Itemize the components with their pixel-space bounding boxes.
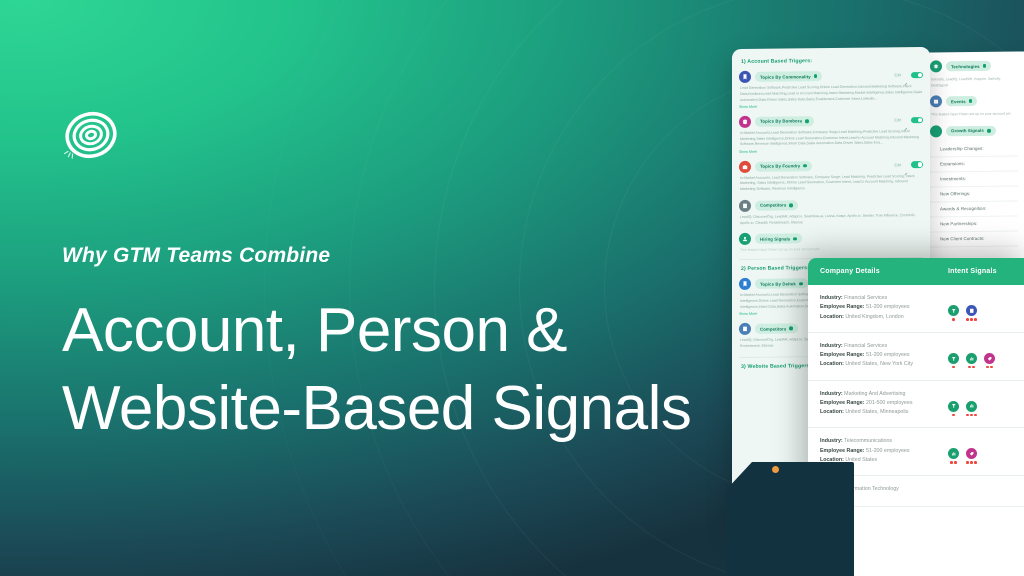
- company-details-cell: Industry: TelecommunicationsEmployee Ran…: [820, 437, 948, 465]
- alert-dots: [968, 366, 975, 369]
- trigger-row-header: Topics By FoundryEdit: [739, 159, 923, 173]
- pencil-icon[interactable]: [904, 118, 908, 122]
- bar-chart-icon: [948, 448, 959, 459]
- product-screenshot-mockup: TechnologiesIntensify, LeadIQ, LeadSift,…: [726, 0, 1024, 576]
- filter-icon: [948, 401, 959, 412]
- show-more-link[interactable]: Show More: [739, 103, 923, 109]
- alert-dots: [952, 366, 955, 369]
- chip-status-dot: [805, 119, 809, 123]
- trigger-chip[interactable]: Topics By Deltek: [755, 279, 808, 290]
- employee-range-label: Employee Range:: [820, 304, 864, 310]
- alert-dot: [970, 318, 973, 321]
- alert-dot: [966, 318, 969, 321]
- taxonomy-row: Growth Signals: [930, 124, 1018, 137]
- location-value: United States, New York City: [845, 361, 913, 367]
- trigger-chip[interactable]: Topics By Bombora: [755, 116, 814, 127]
- spiral-target-icon: [62, 108, 120, 166]
- trigger-chip-label: Competitors: [760, 203, 786, 208]
- employee-range-value: 51-200 employees: [866, 448, 910, 454]
- intent-signals-cell: [948, 485, 1014, 496]
- chip-status-dot: [803, 164, 807, 168]
- tag-icon: [984, 353, 995, 364]
- intent-signal[interactable]: [966, 401, 977, 417]
- taxonomy-group: TechnologiesIntensify, LeadIQ, LeadSift,…: [930, 60, 1018, 89]
- taxonomy-chip[interactable]: Events: [946, 96, 977, 106]
- enable-toggle[interactable]: [911, 161, 923, 168]
- location-label: Location:: [820, 314, 844, 320]
- table-row[interactable]: Industry: Financial ServicesEmployee Ran…: [808, 285, 1024, 333]
- industry-value: Telecommunications: [844, 438, 892, 444]
- intent-signals-cell: [948, 294, 1014, 322]
- trigger-row: Topics By BomboraEditIn-Market Accounts,…: [739, 114, 923, 154]
- chart-up-icon: [930, 125, 942, 137]
- alert-dot: [970, 414, 973, 417]
- trigger-chip[interactable]: Hiring Signals: [755, 234, 802, 244]
- alert-dot: [954, 461, 957, 464]
- intent-signal[interactable]: [966, 353, 977, 369]
- alert-dots: [950, 461, 957, 464]
- decorative-dot: [772, 466, 779, 473]
- chip-status-dot: [987, 129, 991, 133]
- taxonomy-row: Events: [930, 95, 1018, 108]
- trigger-topics-text: In-Market Accounts,Lead Generation Softw…: [740, 129, 923, 148]
- intent-signals-cell: [948, 437, 1014, 465]
- chip-status-dot: [793, 237, 797, 241]
- industry-value: Marketing And Advertising: [844, 391, 905, 397]
- trigger-chip-label: Topics By Bombora: [760, 119, 802, 124]
- column-header-intent-signals: Intent Signals: [948, 268, 997, 275]
- decorative-wedge: [726, 462, 854, 576]
- company-details-cell: Industry: Marketing And AdvertisingEmplo…: [820, 390, 948, 418]
- bookmark-icon: [739, 71, 751, 83]
- alert-dot: [952, 318, 955, 321]
- alert-dot: [972, 366, 975, 369]
- location-value: United Kingdom, London: [845, 314, 903, 320]
- industry-value: Financial Services: [844, 295, 887, 301]
- alert-dot: [968, 366, 971, 369]
- slide-canvas: Why GTM Teams Combine Account, Person & …: [0, 0, 1024, 576]
- trigger-row-header: Topics By BomboraEdit: [739, 114, 923, 128]
- growth-signal-item[interactable]: Awards & Recognition:: [930, 201, 1018, 217]
- table-row[interactable]: Industry: Financial ServicesEmployee Ran…: [808, 333, 1024, 381]
- alert-dot: [986, 366, 989, 369]
- intent-signal[interactable]: [966, 448, 977, 464]
- growth-signal-item[interactable]: Investments:: [930, 171, 1018, 187]
- chip-status-dot: [814, 74, 818, 78]
- intent-signal[interactable]: [948, 353, 959, 369]
- growth-signal-item[interactable]: New Partnerships:: [930, 216, 1018, 232]
- table-row[interactable]: Industry: Marketing And AdvertisingEmplo…: [808, 381, 1024, 429]
- alert-dots: [966, 461, 977, 464]
- edit-link[interactable]: Edit: [894, 118, 901, 122]
- growth-signal-item[interactable]: New Offerings:: [930, 186, 1018, 202]
- industry-label: Industry:: [820, 438, 843, 444]
- headline-line-1: Account, Person &: [62, 296, 567, 365]
- trigger-topics-text: Lead Generation Software,Predictive Lead…: [740, 84, 923, 103]
- trigger-chip-label: Competitors: [760, 326, 786, 331]
- growth-signal-item[interactable]: Leadership Changes:: [930, 141, 1018, 157]
- employee-range-value: 51-200 employees: [866, 352, 910, 358]
- intent-signals-cell: [948, 390, 1014, 418]
- location-label: Location:: [820, 409, 844, 415]
- filter-icon: [948, 305, 959, 316]
- tag-icon: [966, 448, 977, 459]
- trigger-chip-label: Hiring Signals: [760, 236, 790, 241]
- industry-value: Financial Services: [844, 343, 887, 349]
- column-header-company-details: Company Details: [820, 268, 948, 275]
- trigger-row-header: Hiring Signals: [739, 231, 923, 245]
- chip-status-dot: [789, 203, 793, 207]
- enable-toggle[interactable]: [911, 72, 923, 79]
- chip-status-dot: [983, 64, 987, 68]
- trigger-row-controls: Edit: [894, 72, 923, 79]
- trigger-row: CompetitorsLeadIQ, DiscoverOrg, LeadAR, …: [739, 198, 923, 226]
- taxonomy-group: EventsThis feature hasn't been set up on…: [930, 95, 1018, 119]
- calendar-icon: [930, 96, 942, 108]
- trigger-row-controls: Edit: [894, 161, 923, 168]
- industry-label: Industry:: [820, 295, 843, 301]
- employee-range-label: Employee Range:: [820, 400, 864, 406]
- alert-dots: [952, 414, 955, 417]
- intent-signal[interactable]: [948, 448, 959, 464]
- industry-label: Industry:: [820, 343, 843, 349]
- alert-dots: [986, 366, 993, 369]
- trigger-chip-label: Topics By Deltek: [760, 281, 796, 286]
- bar-chart-icon: [966, 401, 977, 412]
- employee-range-value: 201-500 employees: [866, 400, 913, 406]
- alert-dot: [950, 461, 953, 464]
- taxonomy-chip[interactable]: Technologies: [946, 61, 991, 71]
- edit-link[interactable]: Edit: [894, 73, 901, 77]
- hero-content: Why GTM Teams Combine Account, Person & …: [62, 108, 762, 448]
- trigger-chip-label: Topics By Commonality: [760, 74, 811, 80]
- taxonomy-chip[interactable]: Growth Signals: [946, 126, 996, 137]
- headline-line-2: Website-Based Signals: [62, 370, 762, 448]
- alert-dot: [966, 414, 969, 417]
- alert-dots: [966, 318, 977, 321]
- enable-toggle[interactable]: [911, 117, 923, 124]
- employee-range-value: 51-200 employees: [866, 304, 910, 310]
- alert-dot: [966, 461, 969, 464]
- search-doc-icon: [966, 305, 977, 316]
- alert-dot: [974, 414, 977, 417]
- trigger-row-header: Competitors: [739, 198, 923, 212]
- filter-icon: [948, 353, 959, 364]
- chip-status-dot: [969, 99, 973, 103]
- chip-status-dot: [799, 282, 803, 286]
- industry-label: Industry:: [820, 391, 843, 397]
- company-details-cell: Industry: Financial ServicesEmployee Ran…: [820, 294, 948, 322]
- trigger-topics-text: In-Market Accounts, Lead Generation Soft…: [740, 174, 923, 193]
- trigger-row: Hiring SignalsThis feature hasn't been s…: [739, 231, 923, 252]
- trigger-topics-text: This feature hasn't been set up on your …: [740, 246, 923, 252]
- table-header-row: Company Details Intent Signals: [808, 258, 1024, 285]
- trigger-chip-label: Topics By Foundry: [760, 163, 800, 168]
- taxonomy-panel: TechnologiesIntensify, LeadIQ, LeadSift,…: [922, 51, 1024, 280]
- intent-signals-cell: [948, 342, 1014, 370]
- trigger-topics-text: LeadIQ, DiscoverOrg, LeadAR, Adapt.io, S…: [740, 213, 923, 226]
- trigger-row: Topics By CommonalityEditLead Generation…: [739, 69, 923, 109]
- alert-dots: [966, 414, 977, 417]
- company-details-cell: Industry: Financial ServicesEmployee Ran…: [820, 342, 948, 370]
- alert-dot: [952, 366, 955, 369]
- taxonomy-chip-label: Technologies: [951, 63, 980, 68]
- employee-range-label: Employee Range:: [820, 352, 864, 358]
- alert-dot: [970, 461, 973, 464]
- alert-dot: [974, 318, 977, 321]
- alert-dot: [952, 414, 955, 417]
- growth-signal-item[interactable]: New Client Contracts:: [930, 231, 1018, 247]
- pencil-icon[interactable]: [904, 73, 908, 77]
- eyebrow-text: Why GTM Teams Combine: [62, 244, 762, 268]
- show-more-link[interactable]: Show More: [739, 148, 923, 154]
- taxonomy-chip-label: Events: [951, 99, 966, 104]
- intent-signal[interactable]: [948, 305, 959, 321]
- chip-status-dot: [789, 327, 793, 331]
- pencil-icon[interactable]: [904, 163, 908, 167]
- growth-signal-item[interactable]: Expansions:: [930, 156, 1018, 172]
- taxonomy-row: Technologies: [930, 60, 1018, 73]
- taxonomy-group: Growth Signals: [930, 124, 1018, 137]
- chip-icon: [930, 60, 942, 72]
- trigger-row-header: Topics By CommonalityEdit: [739, 69, 923, 83]
- taxonomy-body-text: Intensify, LeadIQ, LeadSift, Hoppier, Sa…: [931, 77, 1018, 89]
- alert-dots: [952, 318, 955, 321]
- location-value: United States, Minneapolis: [845, 409, 908, 415]
- intent-signal[interactable]: [966, 305, 977, 321]
- edit-link[interactable]: Edit: [894, 163, 901, 167]
- trigger-chip[interactable]: Topics By Foundry: [755, 161, 812, 172]
- employee-range-label: Employee Range:: [820, 448, 864, 454]
- page-title: Account, Person & Website-Based Signals: [62, 292, 762, 448]
- taxonomy-chip-label: Growth Signals: [951, 128, 984, 133]
- intent-signal[interactable]: [948, 401, 959, 417]
- location-label: Location:: [820, 361, 844, 367]
- taxonomy-body-text: This feature hasn't been set up on your …: [931, 112, 1018, 119]
- trigger-row-controls: Edit: [894, 117, 923, 124]
- alert-dot: [974, 461, 977, 464]
- alert-dot: [990, 366, 993, 369]
- triggers-section-title: 1) Account Based Triggers:: [741, 57, 923, 65]
- trigger-row: Topics By FoundryEditIn-Market Accounts,…: [739, 159, 923, 193]
- bar-chart-icon: [966, 353, 977, 364]
- trigger-chip[interactable]: Topics By Commonality: [755, 71, 822, 82]
- intent-signal[interactable]: [984, 353, 995, 369]
